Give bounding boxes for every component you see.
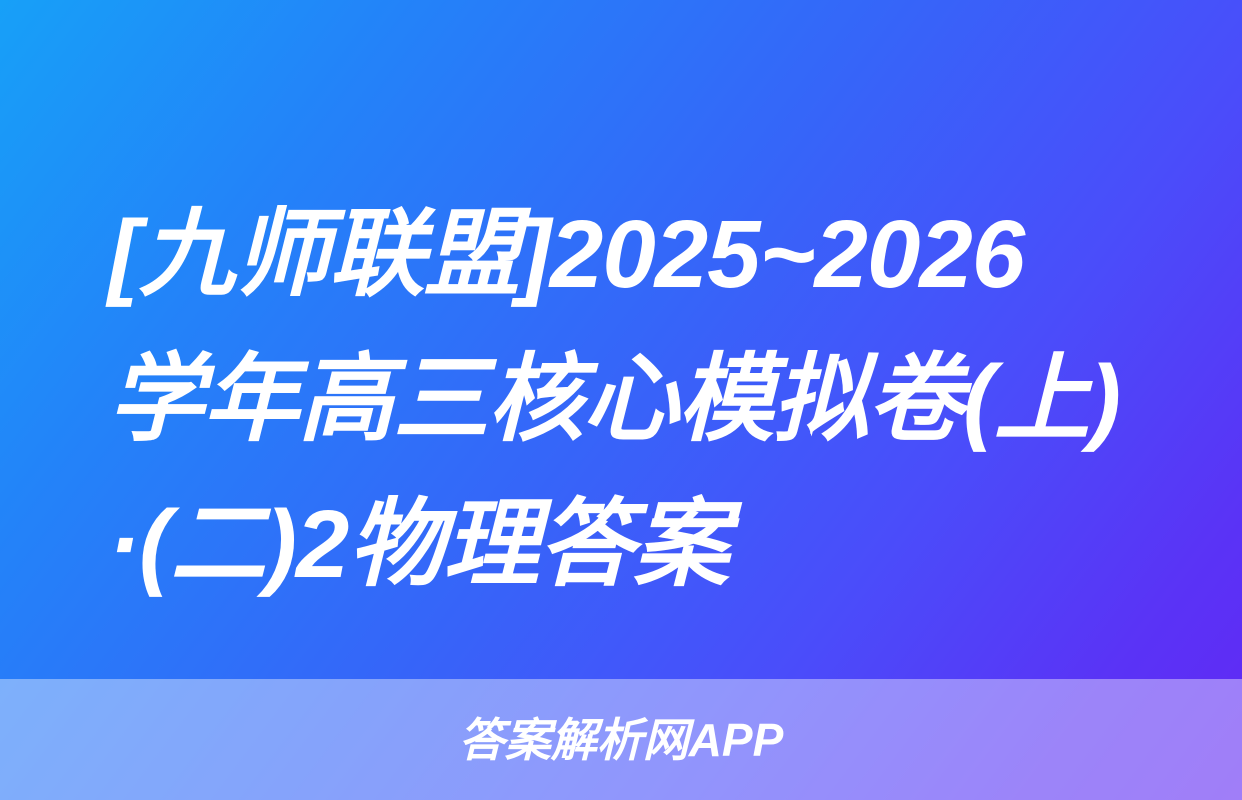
title-line-1: [九师联盟]2025~2026 xyxy=(108,182,1148,327)
page-title: [九师联盟]2025~2026 学年高三核心模拟卷(上) ·(二)2物理答案 xyxy=(108,182,1148,617)
title-line-3: ·(二)2物理答案 xyxy=(108,472,1148,617)
app-watermark-label: 答案解析网APP xyxy=(459,717,784,763)
promo-banner: [九师联盟]2025~2026 学年高三核心模拟卷(上) ·(二)2物理答案 答… xyxy=(0,0,1242,800)
footer-watermark-bar: 答案解析网APP xyxy=(0,679,1242,800)
title-line-2: 学年高三核心模拟卷(上) xyxy=(108,327,1148,472)
